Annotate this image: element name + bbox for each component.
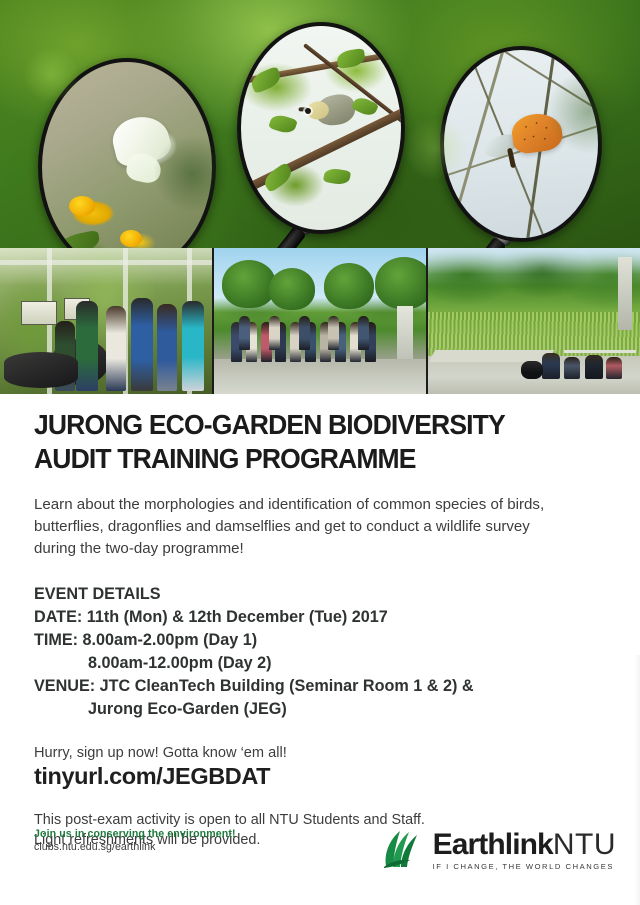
earthlink-ntu-logo: EarthlinkNTU IF I CHANGE, THE WORLD CHAN…: [380, 826, 616, 875]
intro-line-3: during the two-day programme!: [34, 540, 244, 557]
ground-path: [214, 359, 426, 394]
magnifier-butterfly-white: [38, 58, 216, 248]
hero-image-orange-butterfly: [440, 46, 602, 242]
person-figure: [106, 306, 126, 391]
hero-banner: [0, 0, 640, 248]
grass-stem-shape: [469, 46, 602, 119]
event-details-heading: EVENT DETAILS: [34, 583, 606, 606]
shelter-beam: [0, 260, 212, 265]
brand-name-primary: Earthlink: [433, 828, 553, 861]
leaf-shape: [54, 230, 101, 248]
leaf-shape: [268, 112, 298, 135]
person-figure: [299, 316, 310, 350]
page-title: JURONG ECO-GARDEN BIODIVERSITY AUDIT TRA…: [34, 408, 586, 476]
path-slab: [429, 350, 554, 362]
poster-root: JURONG ECO-GARDEN BIODIVERSITY AUDIT TRA…: [0, 0, 640, 905]
photo-wetland-garden: [428, 248, 640, 394]
person-figure: [157, 304, 177, 392]
brand-slogan: IF I CHANGE, THE WORLD CHANGES: [433, 863, 616, 871]
bag-shape: [521, 361, 543, 379]
footer-club-info: Join us in conserving the environment! c…: [34, 826, 236, 853]
person-figure: [239, 316, 250, 350]
butterfly-wing-shape: [509, 111, 564, 156]
hero-image-bird: [237, 22, 405, 234]
event-venue-line1: VENUE: JTC CleanTech Building (Seminar R…: [34, 675, 606, 698]
event-venue-line2: Jurong Eco-Garden (JEG): [34, 698, 606, 721]
person-figure: [542, 353, 560, 379]
flower-shape: [69, 196, 95, 216]
info-board: [21, 301, 57, 325]
event-time-day1: TIME: 8.00am-2.00pm (Day 1): [34, 629, 606, 652]
footer-tagline: Join us in conserving the environment!: [34, 828, 236, 840]
leaf-shape: [248, 66, 283, 94]
signup-url-link[interactable]: tinyurl.com/JEGBDAT: [34, 763, 606, 790]
bird-eye-shape: [305, 108, 311, 114]
person-figure: [131, 298, 153, 391]
tree-shape: [269, 268, 315, 310]
magnifier-butterfly-orange: [440, 46, 602, 242]
railing-shape: [564, 350, 636, 353]
event-details: EVENT DETAILS DATE: 11th (Mon) & 12th De…: [34, 583, 606, 721]
hero-image-white-butterfly: [38, 58, 216, 248]
tree-shape: [324, 263, 374, 309]
tree-shape: [375, 257, 426, 309]
equipment-shape: [4, 352, 78, 388]
footer-club-url[interactable]: clubs.ntu.edu.sg/earthlink: [34, 841, 236, 853]
intro-paragraph: Learn about the morphologies and identif…: [34, 494, 600, 561]
tree-shape: [222, 260, 276, 308]
person-figure: [182, 301, 204, 392]
poster-footer: Join us in conserving the environment! c…: [34, 826, 616, 875]
page-edge-shadow: [634, 655, 640, 905]
brand-name: EarthlinkNTU: [433, 828, 616, 861]
brand-name-secondary: NTU: [553, 828, 616, 861]
photo-group-outdoors: [214, 248, 426, 394]
photo-students-shelter: [0, 248, 212, 394]
leaf-shape: [323, 167, 351, 186]
leaf-icon: [380, 826, 426, 875]
person-figure: [76, 301, 98, 392]
title-line-2: AUDIT TRAINING PROGRAMME: [34, 443, 416, 474]
photo-strip: [0, 248, 640, 394]
bird-shape: [313, 93, 357, 128]
pillar-shape: [618, 257, 632, 330]
brand-lockup: EarthlinkNTU IF I CHANGE, THE WORLD CHAN…: [433, 830, 616, 871]
intro-line-2: butterflies, dragonflies and damselflies…: [34, 518, 530, 535]
flower-shape: [120, 230, 142, 247]
event-time-day2: 8.00am-12.00pm (Day 2): [34, 652, 606, 675]
intro-line-1: Learn about the morphologies and identif…: [34, 496, 544, 513]
person-figure: [606, 357, 622, 379]
person-figure: [564, 357, 580, 379]
title-line-1: JURONG ECO-GARDEN BIODIVERSITY: [34, 409, 505, 440]
event-date: DATE: 11th (Mon) & 12th December (Tue) 2…: [34, 606, 606, 629]
person-figure: [269, 316, 280, 350]
person-figure: [328, 316, 339, 350]
leaf-shape: [336, 49, 366, 70]
person-figure: [585, 355, 603, 379]
butterfly-body-shape: [507, 147, 516, 168]
magnifier-bird: [237, 22, 405, 234]
call-to-action-text: Hurry, sign up now! Gotta know ‘em all!: [34, 745, 606, 761]
person-figure: [358, 316, 369, 350]
